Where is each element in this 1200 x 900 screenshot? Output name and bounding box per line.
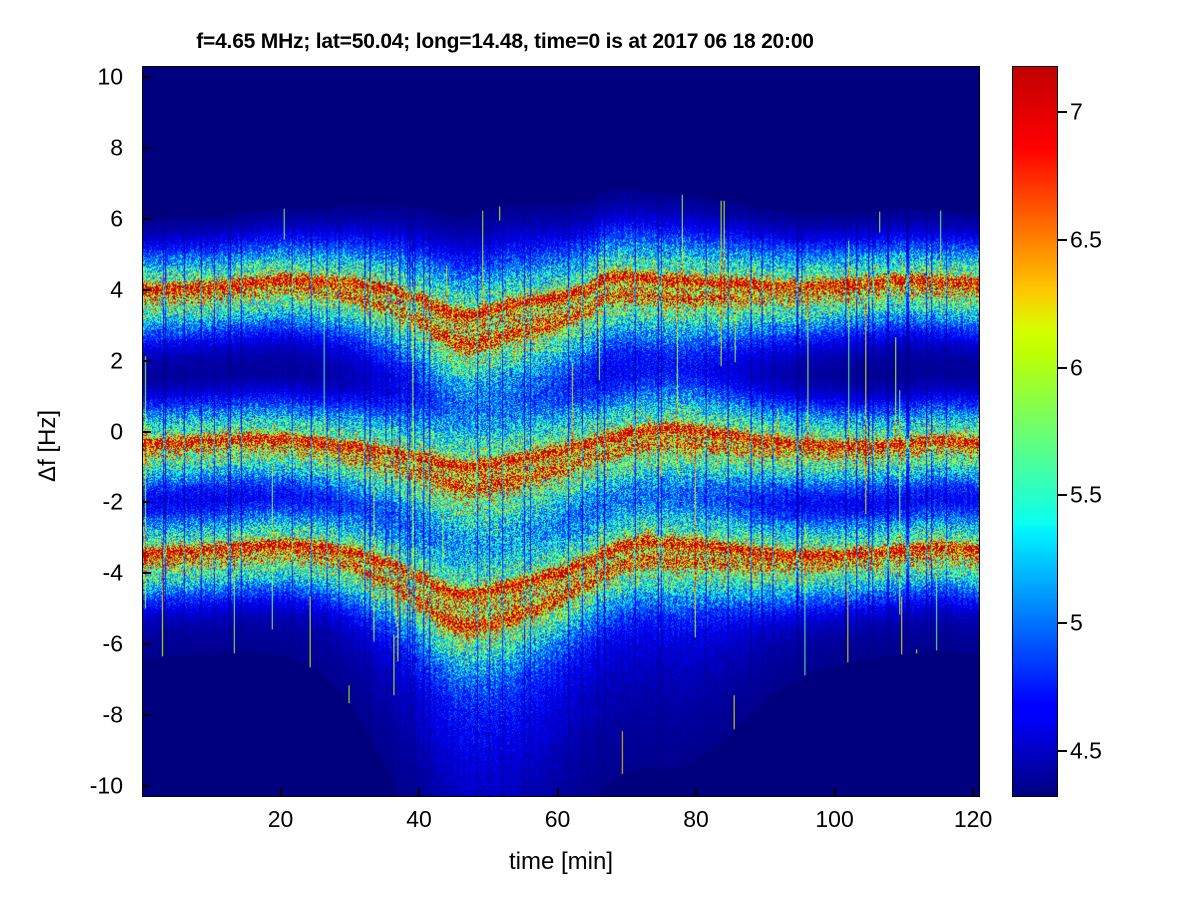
y-tick-mark	[142, 218, 151, 220]
colorbar-tick-mark	[1058, 494, 1067, 496]
matlab-figure: f=4.65 MHz; lat=50.04; long=14.48, time=…	[0, 0, 1200, 900]
colorbar-tick-mark	[1058, 367, 1067, 369]
x-tick-100: 100	[815, 806, 853, 833]
colorbar	[1012, 66, 1058, 797]
y-axis-ticklabels: -10-8-6-4-20246810	[0, 0, 132, 900]
y-tick-mark	[142, 360, 151, 362]
x-tick-20: 20	[268, 806, 294, 833]
y-tick-2: 2	[0, 347, 132, 374]
x-tick-40: 40	[406, 806, 432, 833]
colorbar-tick-6: 6	[1070, 354, 1083, 381]
colorbar-tick-mark	[1058, 750, 1067, 752]
y-tick--10: -10	[0, 773, 132, 800]
y-tick-10: 10	[0, 63, 132, 90]
y-tick--8: -8	[0, 702, 132, 729]
colorbar-gradient	[1013, 67, 1057, 796]
y-tick-0: 0	[0, 418, 132, 445]
colorbar-ticklabels: 4.555.566.57	[1058, 0, 1188, 900]
y-tick--2: -2	[0, 489, 132, 516]
colorbar-tick-mark	[1058, 239, 1067, 241]
spectrogram-image	[143, 67, 979, 796]
y-tick-6: 6	[0, 205, 132, 232]
x-tick-120: 120	[954, 806, 992, 833]
colorbar-tick-5.5: 5.5	[1070, 482, 1102, 509]
y-tick-8: 8	[0, 134, 132, 161]
plot-title: f=4.65 MHz; lat=50.04; long=14.48, time=…	[0, 30, 1010, 54]
x-tick-mark	[972, 788, 974, 797]
y-tick-mark	[142, 431, 151, 433]
y-tick-mark	[142, 76, 151, 78]
y-tick--4: -4	[0, 560, 132, 587]
y-tick-mark	[142, 572, 151, 574]
x-tick-mark	[280, 788, 282, 797]
y-tick-mark	[142, 501, 151, 503]
x-axis-label: time [min]	[142, 848, 980, 876]
y-axis-label: Δf [Hz]	[34, 346, 62, 546]
colorbar-tick-6.5: 6.5	[1070, 226, 1102, 253]
y-tick-4: 4	[0, 276, 132, 303]
colorbar-tick-7: 7	[1070, 99, 1083, 126]
x-tick-80: 80	[683, 806, 709, 833]
x-tick-mark	[418, 788, 420, 797]
y-tick-mark	[142, 643, 151, 645]
y-tick-mark	[142, 785, 151, 787]
spectrogram-axes	[142, 66, 980, 797]
colorbar-tick-mark	[1058, 622, 1067, 624]
colorbar-tick-5: 5	[1070, 610, 1083, 637]
y-tick--6: -6	[0, 631, 132, 658]
x-tick-mark	[557, 788, 559, 797]
x-tick-mark	[695, 788, 697, 797]
colorbar-tick-mark	[1058, 111, 1067, 113]
y-tick-mark	[142, 714, 151, 716]
x-tick-60: 60	[545, 806, 571, 833]
y-tick-mark	[142, 147, 151, 149]
x-axis-ticklabels: 20406080100120	[0, 806, 1200, 846]
x-tick-mark	[834, 788, 836, 797]
y-tick-mark	[142, 289, 151, 291]
colorbar-tick-4.5: 4.5	[1070, 737, 1102, 764]
